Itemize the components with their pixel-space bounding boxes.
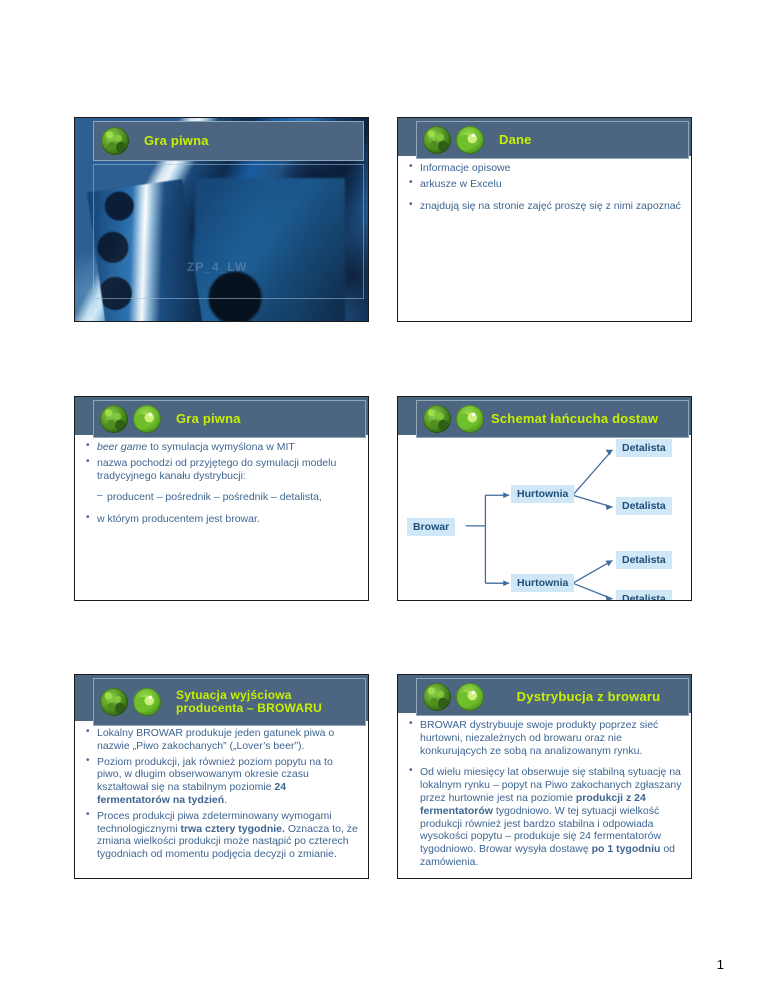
node-detalista-4[interactable]: Detalista xyxy=(616,590,672,601)
node-hurtownia-1[interactable]: Hurtownia xyxy=(511,485,574,503)
slide-title-text: Dystrybucja z browaru xyxy=(489,690,688,704)
title-subtitle-text: ZP_4_LW xyxy=(187,260,247,274)
page-number: 1 xyxy=(717,957,724,972)
slide-header-band: Sytuacja wyjściowa producenta – BROWARU xyxy=(75,675,368,721)
list-item-text-tail: . xyxy=(224,794,227,806)
apple-disc-icon xyxy=(456,683,484,711)
apple-disc-icon xyxy=(133,688,161,716)
list-item: nazwa pochodzi od przyjętego do symulacj… xyxy=(85,457,360,483)
hop-disc-icon xyxy=(423,126,451,154)
slide-gra-piwna[interactable]: Gra piwna beer game to symulacja wymyślo… xyxy=(74,396,369,601)
apple-disc-icon xyxy=(456,126,484,154)
slide-header-band: Dystrybucja z browaru xyxy=(398,675,691,713)
slide-title-line2: producenta – BROWARU xyxy=(176,701,322,715)
list-item-text: to symulacja wymyślona w MIT xyxy=(147,441,295,453)
handout-sheet: Gra piwna ZP_4_LW Dane Informacje opisow… xyxy=(0,0,768,994)
list-item-text: Poziom produkcji, jak również poziom pop… xyxy=(97,756,333,794)
node-browar[interactable]: Browar xyxy=(407,518,455,536)
slide-title-text: Sytuacja wyjściowa producenta – BROWARU xyxy=(176,689,322,715)
slide-header-inner: Gra piwna xyxy=(93,400,366,438)
slide-dane[interactable]: Dane Informacje opisowe arkusze w Excelu… xyxy=(397,117,692,322)
hop-disc-icon xyxy=(423,683,451,711)
title-body-frame xyxy=(93,164,364,299)
slide-header-band: Dane xyxy=(398,118,691,156)
list-item-sub: producent – pośrednik – pośrednik – deta… xyxy=(85,491,360,504)
slide-header-band: Gra piwna xyxy=(75,397,368,435)
title-header-band: Gra piwna xyxy=(93,121,364,161)
node-detalista-3[interactable]: Detalista xyxy=(616,551,672,569)
node-hurtownia-2[interactable]: Hurtownia xyxy=(511,574,574,592)
list-item: arkusze w Excelu xyxy=(408,178,683,191)
slide-body: Lokalny BROWAR produkuje jeden gatunek p… xyxy=(85,727,360,872)
slide-title-text: Gra piwna xyxy=(144,134,209,148)
apple-disc-icon xyxy=(133,405,161,433)
slide-dystrybucja[interactable]: Dystrybucja z browaru BROWAR dystrybuuje… xyxy=(397,674,692,879)
hop-disc-icon xyxy=(100,688,128,716)
list-item: Od wielu miesięcy lat obserwuje się stab… xyxy=(408,766,683,868)
hop-disc-icon xyxy=(101,127,129,155)
list-item: beer game to symulacja wymyślona w MIT xyxy=(85,441,360,454)
hop-disc-icon xyxy=(100,405,128,433)
bold-text-2: po 1 tygodniu xyxy=(592,843,661,855)
slide-header-inner: Sytuacja wyjściowa producenta – BROWARU xyxy=(93,678,366,726)
slide-body: Informacje opisowe arkusze w Excelu znaj… xyxy=(408,162,683,315)
slide-body: beer game to symulacja wymyślona w MIT n… xyxy=(85,441,360,594)
slide-schemat[interactable]: Schemat łańcucha dostaw xyxy=(397,396,692,601)
list-item: Proces produkcji piwa zdeterminowany wym… xyxy=(85,810,360,861)
slide-title-text: Schemat łańcucha dostaw xyxy=(491,412,658,426)
slide-title-text: Gra piwna xyxy=(176,412,241,426)
list-item: Lokalny BROWAR produkuje jeden gatunek p… xyxy=(85,727,360,753)
bullet-list: Informacje opisowe arkusze w Excelu znaj… xyxy=(408,162,683,212)
list-item: BROWAR nie ma ograniczeń w zwiększaniu p… xyxy=(408,878,683,879)
node-detalista-2[interactable]: Detalista xyxy=(616,497,672,515)
bold-text: trwa cztery tygodnie. xyxy=(180,823,284,835)
supply-chain-diagram: Browar Hurtownia Hurtownia Detalista Det… xyxy=(398,427,691,600)
slide-body: BROWAR dystrybuuje swoje produkty poprze… xyxy=(408,719,683,872)
bullet-list: beer game to symulacja wymyślona w MIT n… xyxy=(85,441,360,526)
slide-title-text: Dane xyxy=(499,133,532,147)
list-item-text: BROWAR xyxy=(420,878,470,879)
node-detalista-1[interactable]: Detalista xyxy=(616,439,672,457)
list-item: Poziom produkcji, jak również poziom pop… xyxy=(85,756,360,807)
slide-title[interactable]: Gra piwna ZP_4_LW xyxy=(74,117,369,322)
slide-header-inner: Dane xyxy=(416,121,689,159)
slide-header-inner: Dystrybucja z browaru xyxy=(416,678,689,716)
list-item: BROWAR dystrybuuje swoje produkty poprze… xyxy=(408,719,683,757)
list-item: Informacje opisowe xyxy=(408,162,683,175)
list-item: znajdują się na stronie zajęć proszę się… xyxy=(408,200,683,213)
bullet-list: BROWAR dystrybuuje swoje produkty poprze… xyxy=(408,719,683,879)
bullet-list: Lokalny BROWAR produkuje jeden gatunek p… xyxy=(85,727,360,861)
list-item: w którym producentem jest browar. xyxy=(85,513,360,526)
slide-sytuacja-wyjsciowa[interactable]: Sytuacja wyjściowa producenta – BROWARU … xyxy=(74,674,369,879)
slide-title-line1: Sytuacja wyjściowa xyxy=(176,688,292,702)
emphasis-text: beer game xyxy=(97,441,147,453)
